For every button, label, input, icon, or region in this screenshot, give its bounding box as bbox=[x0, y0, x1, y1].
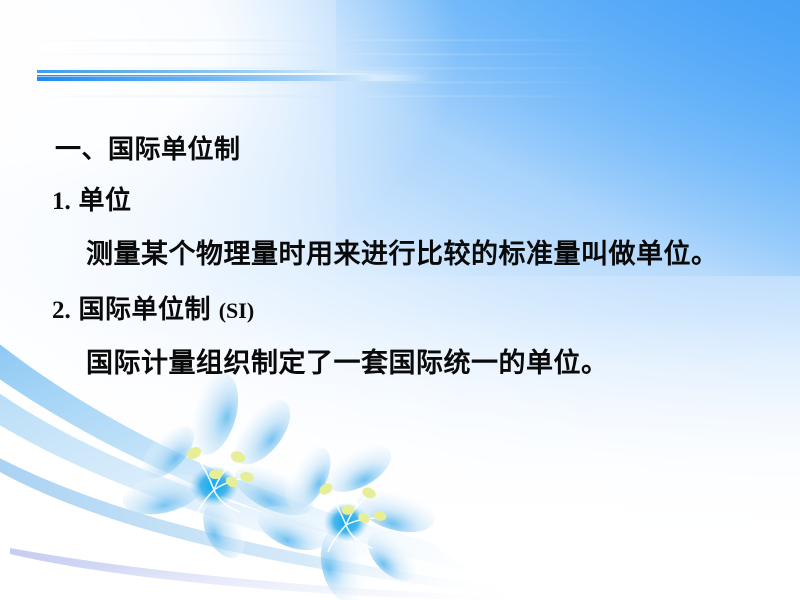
slide-heading: 一、国际单位制 bbox=[55, 129, 241, 166]
heading-text: 一、国际单位制 bbox=[55, 134, 241, 164]
list-item-1: 1. 单位 bbox=[52, 180, 132, 217]
list-item-2-label: 国际单位制 bbox=[78, 294, 211, 324]
slide-text-content: 一、国际单位制 1. 单位 测量某个物理量时用来进行比较的标准量叫做单位。 2.… bbox=[0, 0, 800, 600]
list-item-1-definition-text: 测量某个物理量时用来进行比较的标准量叫做单位。 bbox=[86, 239, 719, 269]
list-item-1-label: 单位 bbox=[78, 185, 131, 215]
presentation-slide: 一、国际单位制 1. 单位 测量某个物理量时用来进行比较的标准量叫做单位。 2.… bbox=[0, 0, 800, 600]
si-abbreviation: (SI) bbox=[219, 298, 254, 323]
list-item-2-definition: 国际计量组织制定了一套国际统一的单位。 bbox=[86, 341, 609, 380]
list-item-2: 2. 国际单位制 (SI) bbox=[52, 289, 254, 326]
list-item-2-numeral: 2. bbox=[52, 297, 71, 324]
list-item-1-definition: 测量某个物理量时用来进行比较的标准量叫做单位。 bbox=[86, 232, 719, 271]
list-item-1-numeral: 1. bbox=[52, 188, 71, 215]
list-item-2-definition-text: 国际计量组织制定了一套国际统一的单位。 bbox=[86, 348, 609, 378]
